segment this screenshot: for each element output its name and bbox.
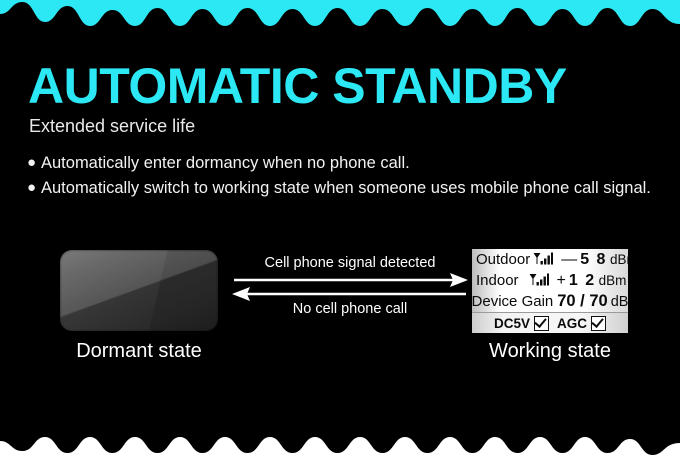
status-agc-checkbox[interactable] [591, 316, 606, 331]
lcd-gain-unit: dB [611, 294, 628, 310]
lcd-row-outdoor: Outdoor — 5 8 dBm [472, 249, 628, 270]
status-dc5v-label: DC5V [494, 316, 530, 331]
page-subtitle: Extended service life [29, 116, 195, 137]
status-dc5v: DC5V [494, 316, 549, 331]
list-item-text: Automatically enter dormancy when no pho… [41, 152, 652, 175]
arrow-top-caption: Cell phone signal detected [232, 255, 468, 271]
slide-root: AUTOMATIC STANDBY Extended service life … [0, 0, 680, 461]
working-state-label: Working state [472, 340, 628, 363]
lcd-row-device-gain: Device Gain 70 / 70 dB [472, 291, 628, 312]
status-agc: AGC [557, 316, 606, 331]
working-device-lcd-display: Outdoor — 5 8 dBm Indoor [472, 249, 628, 333]
lcd-gain-label: Device Gain [472, 293, 553, 310]
dormant-device-image [60, 250, 218, 331]
lcd-gain-value: 70 / 70 [557, 292, 607, 311]
lcd-indoor-unit: dBm [599, 273, 627, 288]
bullet-dot-icon: ● [27, 152, 41, 173]
lcd-outdoor-sign: — [561, 251, 577, 269]
status-dc5v-checkbox[interactable] [534, 316, 549, 331]
page-title: AUTOMATIC STANDBY [28, 61, 567, 111]
lcd-outdoor-unit: dBm [610, 252, 628, 267]
lcd-outdoor-label: Outdoor [476, 251, 530, 268]
signal-bars-icon [533, 252, 553, 267]
arrow-bottom-caption: No cell phone call [232, 301, 468, 317]
feature-bullet-list: ● Automatically enter dormancy when no p… [27, 152, 652, 203]
lcd-outdoor-value: 5 8 [580, 251, 607, 269]
wave-top-decoration [0, 0, 680, 30]
lcd-indoor-sign: + [557, 272, 566, 290]
lcd-row-indoor: Indoor + 1 2 dBm [472, 270, 628, 291]
list-item-text: Automatically switch to working state wh… [41, 177, 652, 200]
signal-bars-icon [529, 273, 549, 288]
lcd-indoor-label: Indoor [476, 272, 519, 289]
list-item: ● Automatically enter dormancy when no p… [27, 152, 652, 175]
lcd-row-status: DC5V AGC [472, 312, 628, 333]
lcd-indoor-value: 1 2 [569, 272, 596, 290]
status-agc-label: AGC [557, 316, 587, 331]
list-item: ● Automatically switch to working state … [27, 177, 652, 200]
dormant-state-label: Dormant state [60, 340, 218, 363]
device-gloss-highlight [60, 250, 168, 331]
bullet-dot-icon: ● [27, 177, 41, 198]
wave-bottom-decoration [0, 429, 680, 461]
